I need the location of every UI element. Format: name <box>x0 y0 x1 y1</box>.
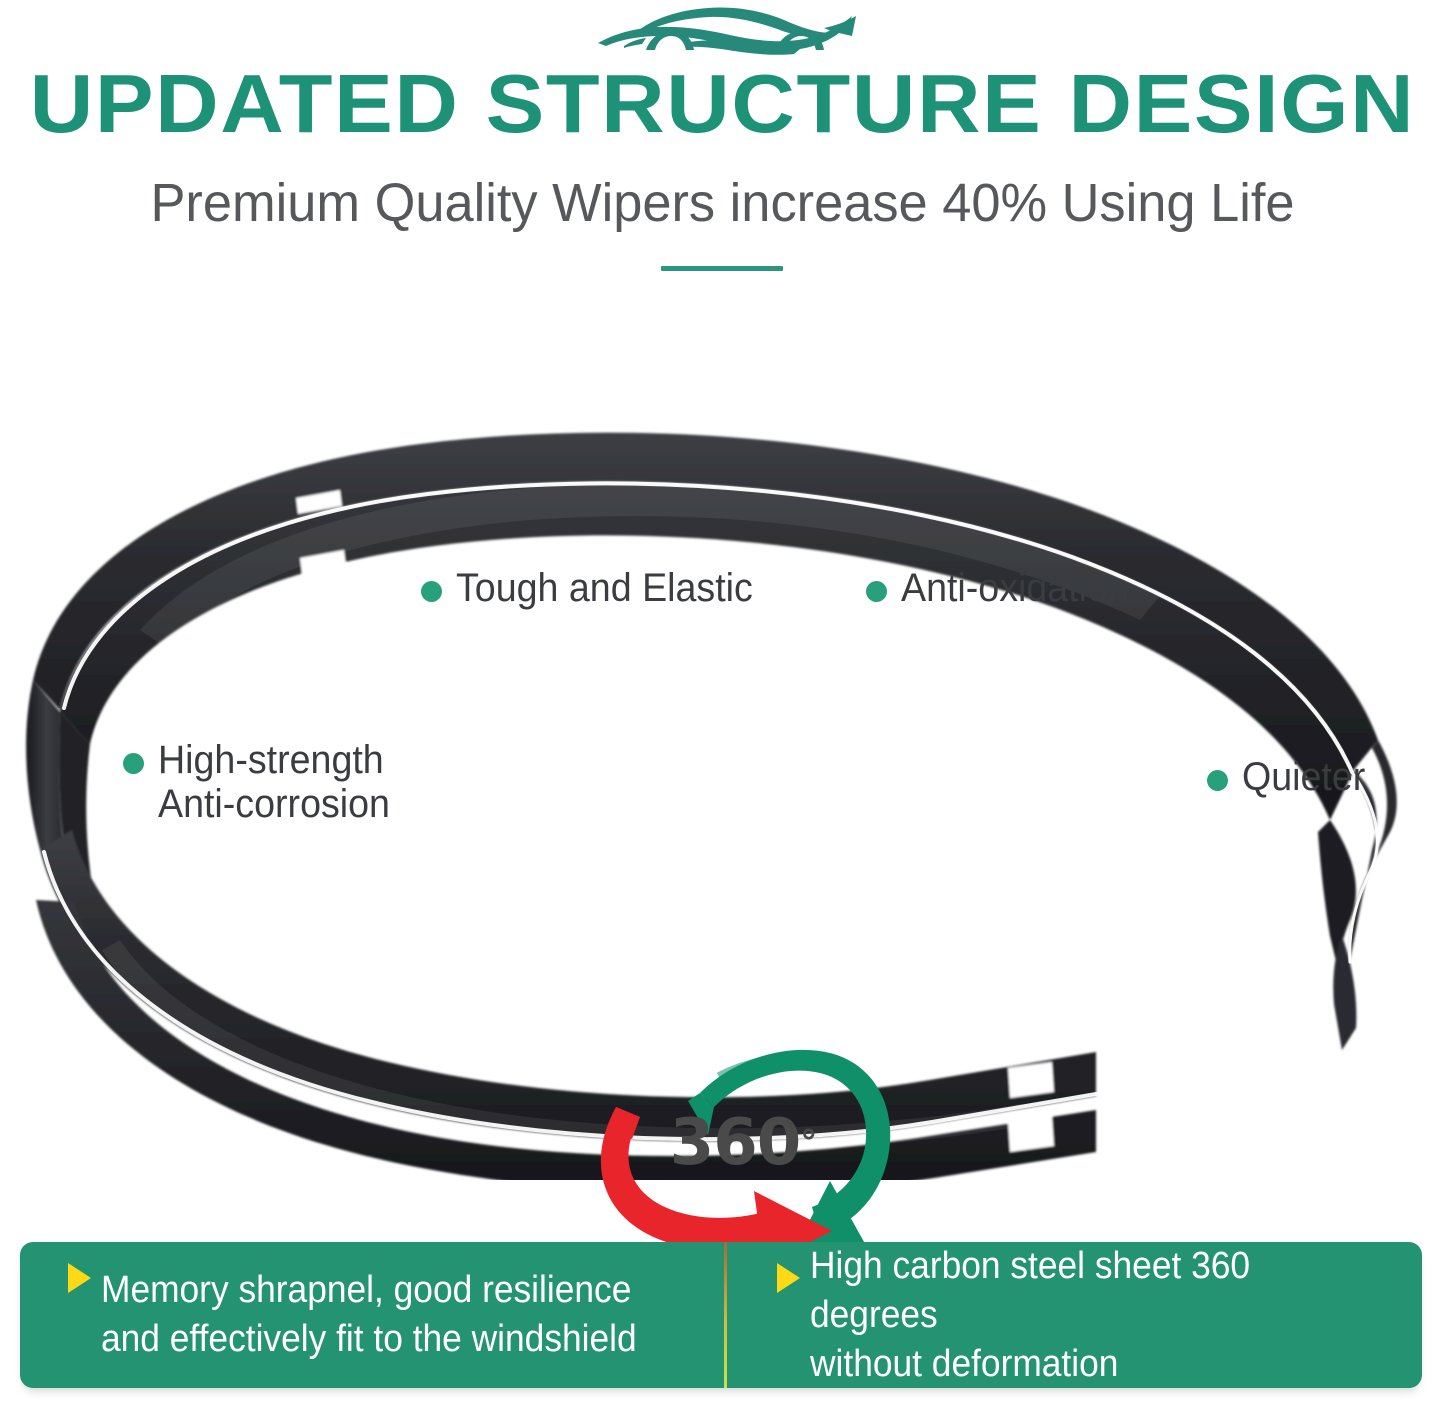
feature-callout-anti-oxidation: Anti-oxidation <box>866 566 1143 610</box>
triangle-bullet-icon <box>777 1263 800 1293</box>
360-degree-badge: 360° <box>568 1035 918 1250</box>
feature-label: Tough and Elastic <box>456 566 753 610</box>
feature-label: High-strength Anti-corrosion <box>158 738 390 826</box>
page-subtitle: Premium Quality Wipers increase 40% Usin… <box>22 176 1424 230</box>
bullet-dot-icon <box>123 753 144 774</box>
banner-column-memory-shrapnel: Memory shrapnel, good resilience and eff… <box>20 1242 721 1388</box>
sports-car-silhouette-icon <box>580 2 880 60</box>
page-title: UPDATED STRUCTURE DESIGN <box>0 62 1445 145</box>
bullet-dot-icon <box>1207 770 1228 791</box>
banner-column-high-carbon-steel: High carbon steel sheet 360 degrees with… <box>721 1242 1422 1388</box>
bottom-feature-banner: Memory shrapnel, good resilience and eff… <box>20 1242 1422 1388</box>
360-rotation-arrows-icon <box>568 1035 918 1250</box>
product-infographic-page: UPDATED STRUCTURE DESIGN Premium Quality… <box>0 0 1445 1421</box>
feature-callout-tough-and-elastic: Tough and Elastic <box>421 566 772 610</box>
banner-divider <box>724 1242 727 1388</box>
feature-callout-quieter: Quieter <box>1207 755 1373 799</box>
banner-text: Memory shrapnel, good resilience and eff… <box>101 1266 637 1364</box>
triangle-bullet-icon <box>68 1263 91 1293</box>
bullet-dot-icon <box>421 581 442 602</box>
feature-label: Anti-oxidation <box>901 566 1129 610</box>
title-underline-rule <box>661 266 783 271</box>
feature-callout-high-strength-anti-corrosion: High-strength Anti-corrosion <box>123 738 405 826</box>
feature-label: Quieter <box>1242 755 1365 799</box>
banner-text: High carbon steel sheet 360 degrees with… <box>810 1242 1379 1389</box>
bullet-dot-icon <box>866 581 887 602</box>
